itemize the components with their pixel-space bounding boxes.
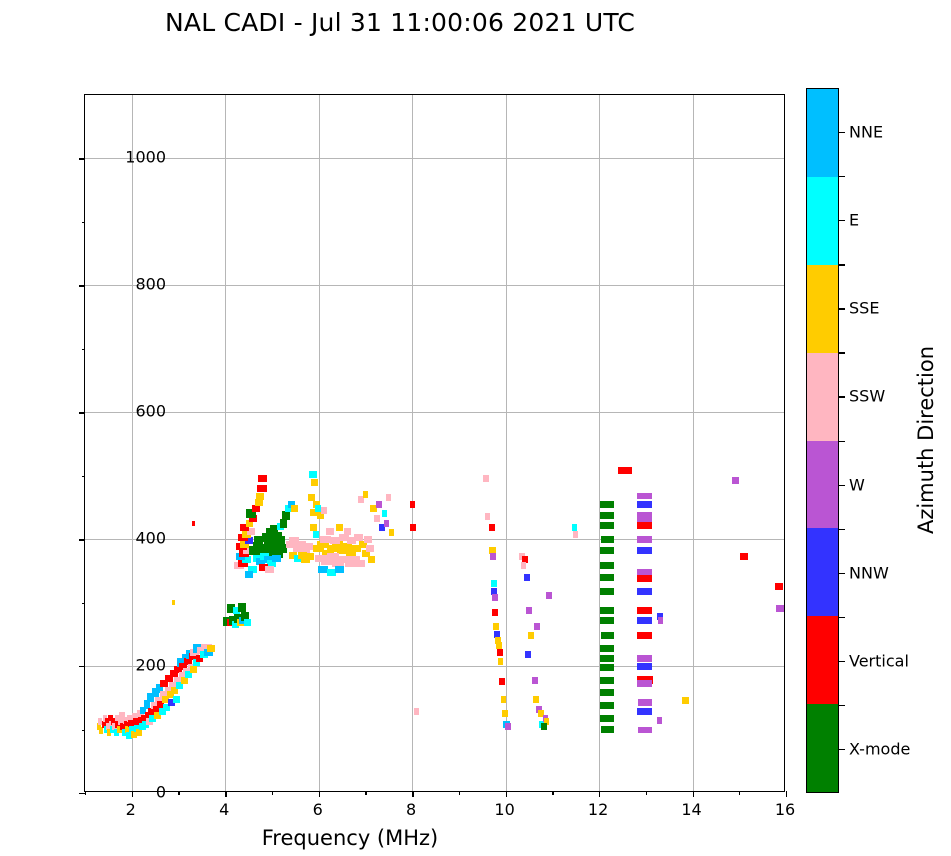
y-tick-label: 600 [135, 402, 166, 421]
colorbar-segment-sse [807, 265, 838, 353]
colorbar-tick [839, 132, 845, 133]
data-point [600, 607, 614, 614]
x-minor-tick [272, 791, 273, 795]
data-point [207, 645, 215, 652]
data-point [265, 566, 274, 573]
x-tick-label: 4 [219, 800, 229, 819]
colorbar-tick [839, 396, 845, 397]
data-point [280, 519, 287, 528]
x-tick [225, 791, 226, 797]
data-point [252, 505, 260, 512]
colorbar-boundary-tick [839, 264, 845, 265]
colorbar-boundary-tick [839, 617, 845, 618]
data-point [493, 623, 499, 630]
data-point [637, 617, 652, 624]
data-point [238, 603, 246, 612]
colorbar [806, 88, 839, 793]
data-point [740, 553, 748, 560]
x-tick [599, 791, 600, 797]
data-point [363, 491, 368, 498]
y-tick-label: 0 [156, 783, 166, 802]
data-point [497, 649, 503, 656]
data-point [600, 512, 614, 519]
data-point [321, 507, 327, 514]
data-point [499, 678, 505, 685]
data-point [637, 607, 652, 614]
data-point [600, 689, 614, 696]
data-point [573, 531, 578, 538]
chart-title: NAL CADI - Jul 31 11:00:06 2021 UTC [0, 8, 800, 37]
data-point [173, 696, 180, 703]
data-point [658, 617, 663, 624]
data-point [600, 522, 614, 529]
colorbar-label-vertical: Vertical [849, 651, 909, 670]
data-point [305, 553, 314, 560]
y-tick [79, 666, 85, 667]
y-tick [79, 412, 85, 413]
colorbar-boundary-tick [839, 441, 845, 442]
x-tick [786, 791, 787, 797]
data-point [528, 632, 534, 639]
x-tick [412, 791, 413, 797]
data-point [257, 485, 267, 492]
data-point [374, 515, 380, 522]
colorbar-label: Azimuth Direction [914, 346, 938, 534]
x-tick [693, 791, 694, 797]
x-minor-tick [85, 791, 86, 795]
data-point [600, 645, 614, 652]
colorbar-label-x-mode: X-mode [849, 739, 910, 758]
colorbar-tick [839, 220, 845, 221]
data-point [382, 510, 387, 517]
data-point [490, 553, 496, 560]
data-point [600, 562, 614, 569]
data-point [311, 479, 318, 486]
data-point [501, 696, 506, 703]
data-point [776, 605, 784, 612]
data-point [682, 697, 690, 704]
colorbar-label-e: E [849, 211, 859, 230]
data-point [600, 655, 614, 662]
data-point [492, 594, 498, 601]
y-tick-label: 800 [135, 275, 166, 294]
data-point [618, 467, 632, 474]
colorbar-label-ssw: SSW [849, 387, 885, 406]
figure: NAL CADI - Jul 31 11:00:06 2021 UTC Virt… [0, 0, 951, 856]
colorbar-boundary-tick [839, 176, 845, 177]
colorbar-segment-e [807, 177, 838, 265]
data-point [414, 708, 419, 715]
data-point [303, 543, 313, 550]
data-point [637, 632, 652, 639]
data-point [533, 696, 539, 703]
y-tick [79, 158, 85, 159]
y-minor-tick [82, 730, 86, 731]
x-tick-label: 12 [588, 800, 608, 819]
data-point [534, 623, 540, 630]
data-point [386, 494, 391, 501]
x-minor-tick [459, 791, 460, 795]
data-point [256, 493, 264, 500]
data-point [637, 547, 652, 554]
x-minor-tick [646, 791, 647, 795]
data-point [600, 617, 614, 624]
y-tick-label: 1000 [125, 148, 166, 167]
colorbar-label-w: W [849, 475, 865, 494]
data-point [637, 588, 652, 595]
x-tick-label: 10 [494, 800, 514, 819]
data-point [600, 547, 614, 554]
data-point [601, 726, 614, 733]
data-point [521, 562, 526, 569]
data-point [136, 729, 142, 736]
data-point [775, 583, 783, 590]
data-point [637, 708, 652, 715]
data-point [272, 555, 281, 562]
data-point [291, 505, 298, 512]
data-point [532, 677, 538, 684]
x-tick [132, 791, 133, 797]
x-axis-label: Frequency (MHz) [262, 826, 438, 850]
data-point [600, 574, 614, 581]
data-point [600, 702, 614, 709]
y-minor-tick [82, 349, 86, 350]
colorbar-label-nne: NNE [849, 123, 883, 142]
data-point [600, 677, 614, 684]
colorbar-boundary-tick [839, 705, 845, 706]
colorbar-segment-ssw [807, 353, 838, 441]
data-point [326, 528, 334, 535]
data-point [600, 664, 614, 671]
data-point [491, 580, 497, 587]
data-point [192, 521, 195, 526]
colorbar-tick [839, 749, 845, 750]
data-point [277, 536, 285, 545]
data-point [637, 575, 652, 582]
y-minor-tick [82, 603, 86, 604]
colorbar-tick [839, 573, 845, 574]
data-point [364, 536, 372, 543]
data-point [190, 666, 197, 673]
data-point [410, 524, 415, 531]
data-point [492, 609, 498, 616]
data-point [600, 715, 614, 722]
colorbar-boundary-tick [839, 529, 845, 530]
data-point [638, 727, 652, 733]
x-minor-tick [365, 791, 366, 795]
data-point [732, 477, 740, 484]
x-tick [319, 791, 320, 797]
x-tick-label: 8 [406, 800, 416, 819]
colorbar-segment-vertical [807, 616, 838, 704]
data-layer [85, 95, 784, 791]
colorbar-tick [839, 308, 845, 309]
data-point [384, 520, 389, 527]
data-point [498, 658, 503, 665]
data-point [336, 524, 343, 531]
data-point [376, 501, 382, 508]
colorbar-segment-nnw [807, 528, 838, 616]
y-tick-label: 200 [135, 656, 166, 675]
x-minor-tick [178, 791, 179, 795]
data-point [366, 545, 374, 552]
data-point [313, 531, 319, 538]
data-point [600, 588, 614, 595]
colorbar-tick [839, 485, 845, 486]
x-tick-label: 2 [126, 800, 136, 819]
data-point [526, 607, 532, 614]
data-point [546, 592, 552, 599]
x-minor-tick [739, 791, 740, 795]
data-point [541, 723, 547, 730]
data-point [637, 680, 652, 687]
y-minor-tick [82, 222, 86, 223]
data-point [637, 655, 652, 662]
data-point [244, 619, 251, 626]
data-point [601, 632, 614, 639]
data-point [354, 560, 365, 567]
data-point [389, 529, 394, 536]
data-point [344, 528, 351, 535]
data-point [172, 600, 175, 605]
data-point [637, 522, 652, 529]
x-minor-tick [552, 791, 553, 795]
colorbar-label-sse: SSE [849, 299, 879, 318]
data-point [99, 727, 103, 734]
data-point [309, 471, 317, 478]
data-point [525, 651, 531, 658]
colorbar-label-nnw: NNW [849, 563, 889, 582]
data-point [368, 556, 375, 563]
data-point [637, 663, 652, 670]
y-tick-label: 400 [135, 529, 166, 548]
data-point [505, 723, 510, 730]
data-point [245, 571, 253, 578]
colorbar-segment-nne [807, 89, 838, 177]
colorbar-segment-w [807, 441, 838, 529]
data-point [483, 475, 489, 482]
data-point [335, 566, 344, 573]
x-tick [506, 791, 507, 797]
data-point [657, 717, 662, 724]
plot-axes [84, 94, 785, 792]
data-point [330, 537, 340, 544]
data-point [489, 524, 495, 531]
data-point [637, 501, 652, 508]
colorbar-boundary-tick [839, 352, 845, 353]
x-tick-label: 16 [775, 800, 795, 819]
data-point [502, 710, 508, 717]
data-point [410, 501, 415, 508]
colorbar-segment-x-mode [807, 704, 838, 792]
data-point [255, 499, 263, 506]
data-point [601, 536, 614, 543]
data-point [485, 513, 490, 520]
data-point [600, 501, 614, 508]
data-point [637, 536, 652, 543]
y-tick [79, 539, 85, 540]
x-tick-label: 6 [313, 800, 323, 819]
data-point [638, 699, 652, 706]
y-tick [79, 285, 85, 286]
data-point [524, 574, 530, 581]
data-point [258, 475, 267, 482]
colorbar-tick [839, 661, 845, 662]
x-tick-label: 14 [681, 800, 701, 819]
y-minor-tick [82, 476, 86, 477]
data-point [637, 493, 652, 499]
